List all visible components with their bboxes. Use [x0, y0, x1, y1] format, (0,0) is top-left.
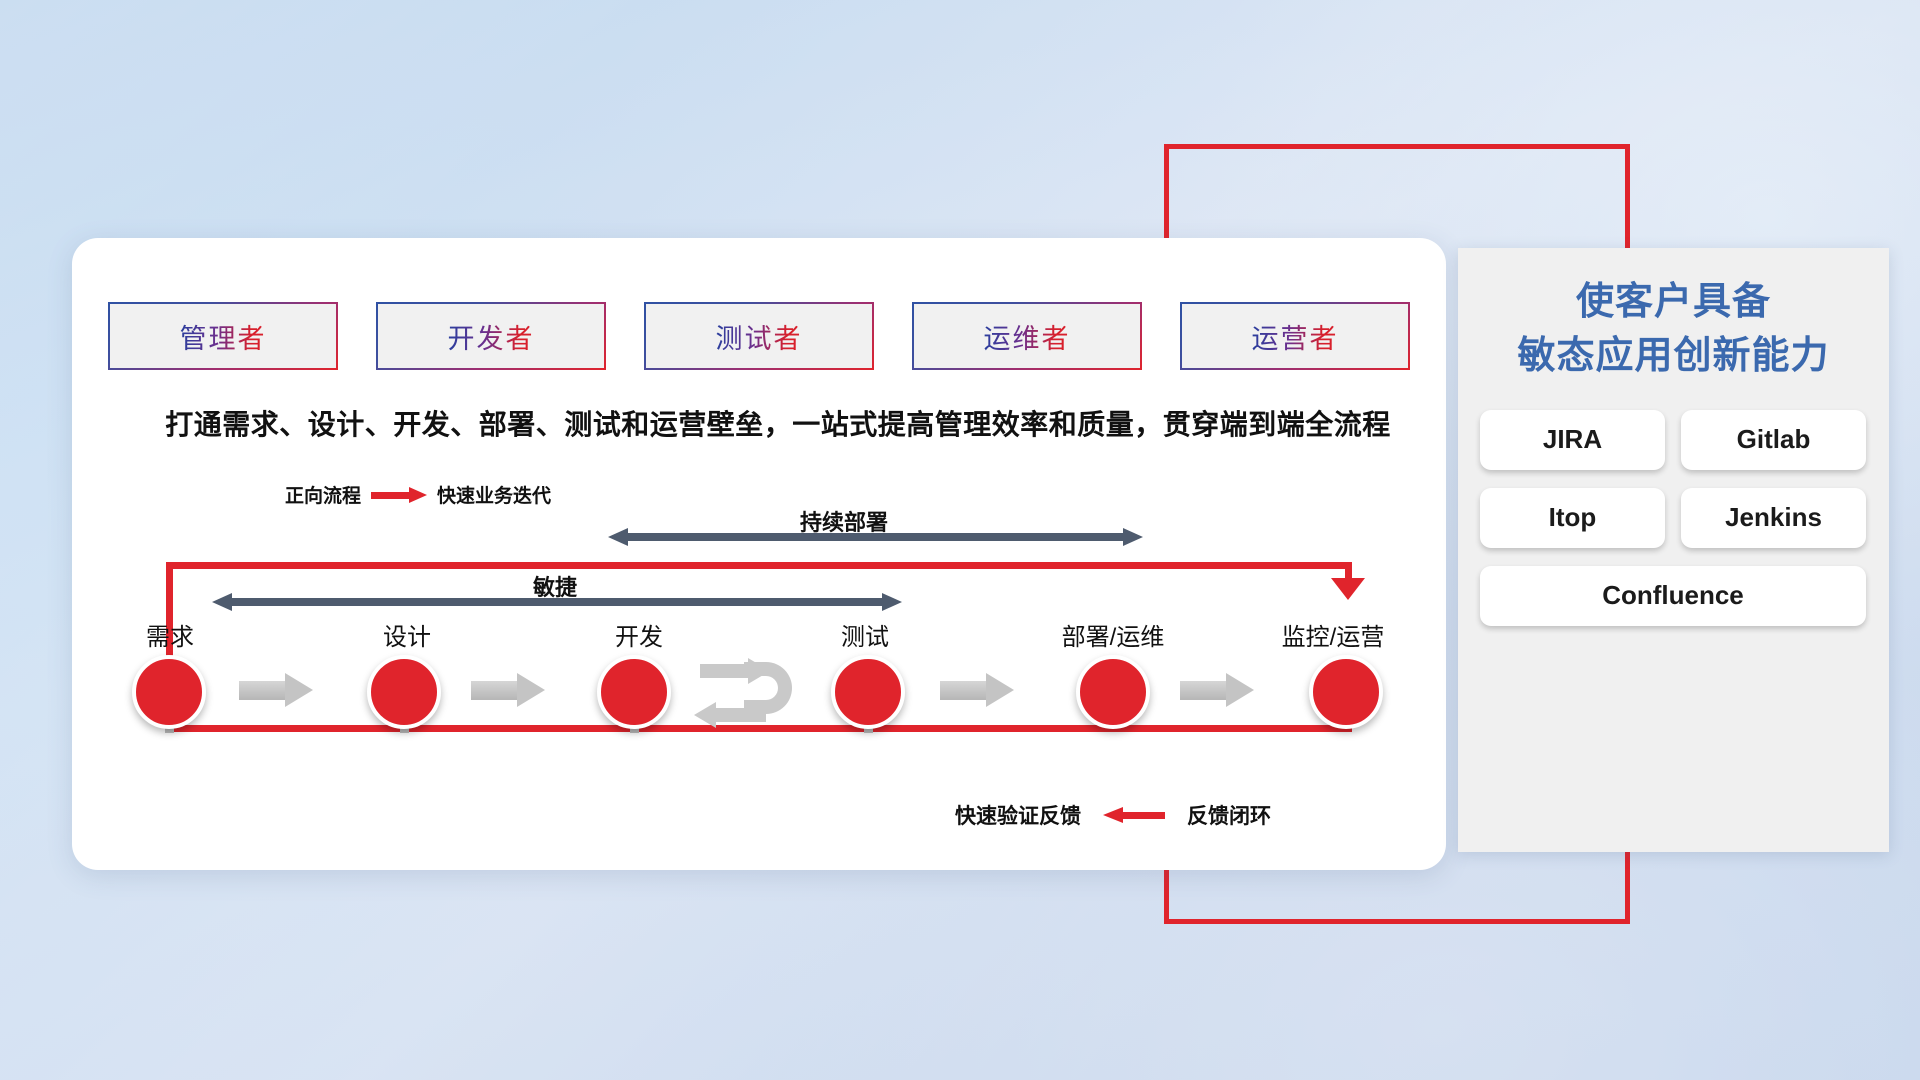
tool-tag-itop[interactable]: Itop [1480, 488, 1665, 548]
panel-title-line1: 使客户具备 [1458, 276, 1889, 330]
bracket-bottom-segment [1164, 919, 1630, 924]
fast-iteration-label: 快速业务迭代 [437, 481, 551, 508]
node-label-monitor-operate: 监控/运营 [1253, 617, 1413, 652]
tool-tag-jira[interactable]: JIRA [1480, 410, 1665, 470]
role-label: 开发者 [448, 317, 535, 356]
role-box-list: 管理者 开发者 测试者 运维者 运营者 [108, 302, 1410, 370]
node-label-deploy-ops: 部署/运维 [1033, 617, 1193, 652]
headline-text: 打通需求、设计、开发、部署、测试和运营壁垒，一站式提高管理效率和质量，贯穿端到端… [128, 403, 1428, 443]
role-label: 测试者 [716, 317, 803, 356]
node-label-test: 测试 [825, 617, 905, 652]
value-panel: 使客户具备 敏态应用创新能力 JIRA Gitlab Itop Jenkins … [1458, 248, 1889, 852]
forward-flow-legend: 正向流程 快速业务迭代 [285, 481, 551, 508]
role-label: 运营者 [1252, 317, 1339, 356]
arrow-requirement-to-design [239, 673, 313, 707]
role-box-operator[interactable]: 运营者 [1180, 302, 1410, 370]
tool-tag-jenkins[interactable]: Jenkins [1681, 488, 1866, 548]
arrow-design-to-develop [471, 673, 545, 707]
feedback-legend: 快速验证反馈 反馈闭环 [955, 800, 1271, 830]
role-box-tester[interactable]: 测试者 [644, 302, 874, 370]
node-deploy-ops[interactable] [1076, 655, 1150, 729]
role-box-manager[interactable]: 管理者 [108, 302, 338, 370]
node-test[interactable] [831, 655, 905, 729]
bracket-top-segment [1164, 144, 1630, 149]
role-label: 运维者 [984, 317, 1071, 356]
node-label-design: 设计 [367, 617, 447, 652]
tool-tag-confluence[interactable]: Confluence [1480, 566, 1866, 626]
feedback-loop-label: 反馈闭环 [1187, 800, 1271, 830]
node-label-requirement: 需求 [130, 617, 210, 652]
node-requirement[interactable] [132, 655, 206, 729]
tool-tag-list: JIRA Gitlab Itop Jenkins Confluence [1458, 410, 1889, 626]
fast-verify-feedback-label: 快速验证反馈 [955, 800, 1081, 830]
panel-title: 使客户具备 敏态应用创新能力 [1458, 276, 1889, 384]
role-label: 管理者 [180, 317, 267, 356]
arrow-deploy-to-monitor [1180, 673, 1254, 707]
node-design[interactable] [367, 655, 441, 729]
node-develop[interactable] [597, 655, 671, 729]
role-box-ops[interactable]: 运维者 [912, 302, 1142, 370]
agile-arrow-icon [212, 593, 902, 611]
node-monitor-operate[interactable] [1309, 655, 1383, 729]
red-left-arrow-icon [1103, 807, 1165, 823]
arrow-test-to-deploy [940, 673, 1014, 707]
panel-title-line2: 敏态应用创新能力 [1458, 330, 1889, 384]
iteration-loop-icon [700, 660, 796, 722]
tool-tag-gitlab[interactable]: Gitlab [1681, 410, 1866, 470]
forward-flow-label: 正向流程 [285, 481, 361, 508]
red-right-arrow-icon [371, 487, 427, 503]
node-label-develop: 开发 [599, 617, 679, 652]
role-box-developer[interactable]: 开发者 [376, 302, 606, 370]
continuous-deploy-arrow-icon [608, 528, 1143, 546]
